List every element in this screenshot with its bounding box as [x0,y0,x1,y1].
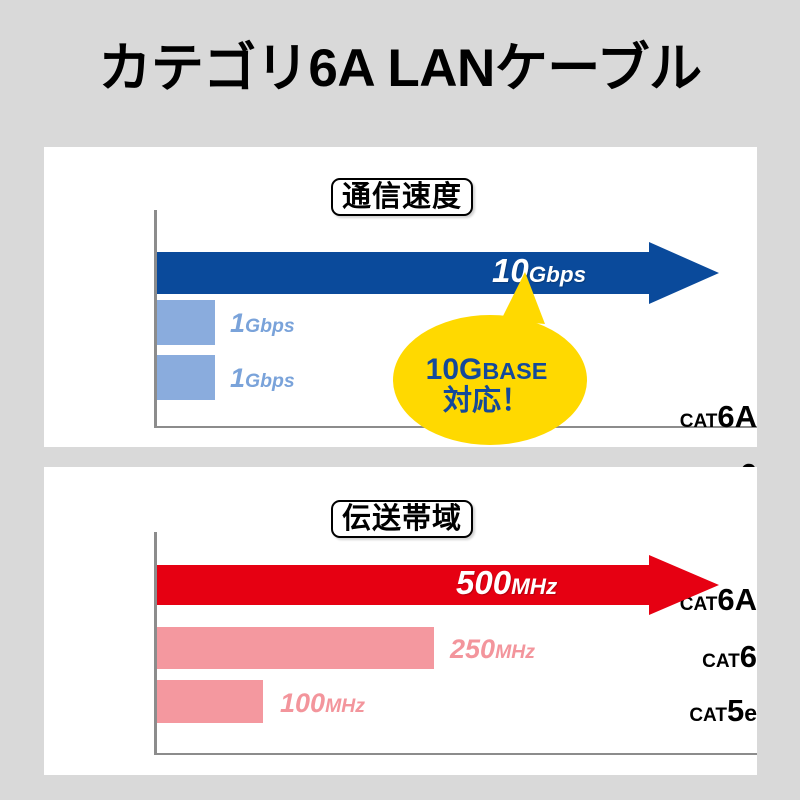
bar-value-cat5e-speed: 1Gbps [230,365,295,392]
page-title: カテゴリ6A LANケーブル [0,42,800,95]
chart-bandwidth: CAT6A CAT6 CAT5e 500MHz 250MHz [44,467,757,775]
category-label-cat6-bandwidth: CAT6 [653,641,757,672]
bar-cat6-speed [157,300,215,345]
chart-tag-speed: 通信速度 [331,178,473,216]
chart-speed: CAT6A CAT6 CAT5e 10Gbps 1Gbps [44,147,757,447]
chart-panel-speed: CAT6A CAT6 CAT5e 10Gbps 1Gbps [44,147,757,447]
category-label-cat6a-speed: CAT6A [653,401,757,432]
bar-cat6a-bandwidth [157,555,719,615]
category-label-cat5e-bandwidth: CAT5e [653,695,757,726]
bar-cat5e-bandwidth [157,680,263,723]
bar-cat5e-speed [157,355,215,400]
bar-value-cat6a-bandwidth: 500MHz [456,566,557,599]
bar-cat6-bandwidth [157,627,434,669]
bar-value-cat6-bandwidth: 250MHz [450,636,535,663]
chart-tag-bandwidth: 伝送帯域 [331,500,473,538]
chart-panel-bandwidth: CAT6A CAT6 CAT5e 500MHz 250MHz [44,467,757,775]
callout-text: 10GBASE 対応！ [384,354,589,418]
x-axis-line-bandwidth [154,753,757,755]
bar-value-cat5e-bandwidth: 100MHz [280,690,365,717]
bar-value-cat6-speed: 1Gbps [230,310,295,337]
page-root: カテゴリ6A LANケーブル CAT6A CAT6 CAT5e [0,0,800,800]
callout-10gbase: 10GBASE 対応！ [393,272,598,447]
